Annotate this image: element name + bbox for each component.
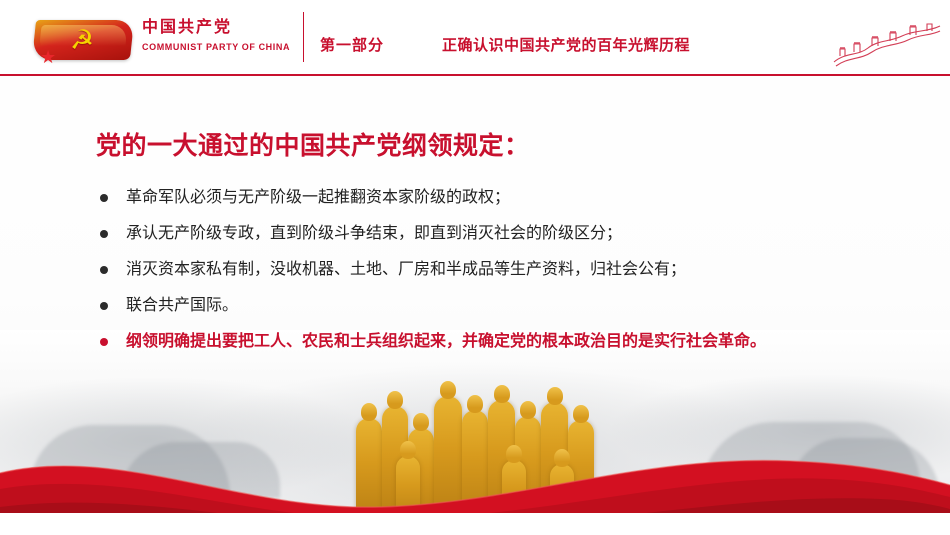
page-title: 党的一大通过的中国共产党纲领规定：	[96, 126, 530, 162]
slide-body: 党的一大通过的中国共产党纲领规定： 革命军队必须与无产阶级一起推翻资本家阶级的政…	[0, 76, 950, 535]
section-title: 正确认识中国共产党的百年光辉历程	[442, 34, 690, 55]
brand-block: 中国共产党 COMMUNIST PARTY OF CHINA	[142, 18, 302, 54]
list-item-label: 革命军队必须与无产阶级一起推翻资本家阶级的政权；	[126, 189, 510, 206]
list-item: 联合共产国际。	[96, 288, 886, 324]
list-item-label: 消灭资本家私有制，没收机器、土地、厂房和半成品等生产资料，归社会公有；	[126, 261, 686, 278]
list-item: 承认无产阶级专政，直到阶级斗争结束，即直到消灭社会的阶级区分；	[96, 216, 886, 252]
section-label: 第一部分	[320, 34, 384, 55]
slide: ☭ ★ 中国共产党 COMMUNIST PARTY OF CHINA 第一部分 …	[0, 0, 950, 535]
header-divider	[303, 12, 304, 62]
footer-band	[0, 513, 950, 535]
list-item-label: 承认无产阶级专政，直到阶级斗争结束，即直到消灭社会的阶级区分；	[126, 225, 622, 242]
list-item: 革命军队必须与无产阶级一起推翻资本家阶级的政权；	[96, 180, 886, 216]
hammer-and-sickle-icon: ☭	[60, 26, 104, 56]
list-item: 消灭资本家私有制，没收机器、土地、厂房和半成品等生产资料，归社会公有；	[96, 252, 886, 288]
bullet-dot-icon	[100, 302, 108, 310]
party-emblem-icon: ☭ ★	[34, 16, 139, 64]
great-wall-icon	[832, 22, 942, 68]
star-icon: ★	[40, 49, 56, 67]
list-item-label: 联合共产国际。	[126, 297, 238, 314]
brand-name-cn: 中国共产党	[142, 18, 302, 38]
list-item-label: 纲领明确提出要把工人、农民和士兵组织起来，并确定党的根本政治目的是实行社会革命。	[126, 333, 766, 350]
bullet-dot-icon	[100, 338, 108, 346]
bullet-dot-icon	[100, 194, 108, 202]
list-item-highlighted: 纲领明确提出要把工人、农民和士兵组织起来，并确定党的根本政治目的是实行社会革命。	[96, 324, 886, 360]
bullet-dot-icon	[100, 230, 108, 238]
bullet-list: 革命军队必须与无产阶级一起推翻资本家阶级的政权； 承认无产阶级专政，直到阶级斗争…	[96, 180, 886, 360]
header-accent-rule	[0, 74, 950, 76]
bullet-dot-icon	[100, 266, 108, 274]
brand-name-en: COMMUNIST PARTY OF CHINA	[142, 40, 302, 54]
slide-header: ☭ ★ 中国共产党 COMMUNIST PARTY OF CHINA 第一部分 …	[0, 0, 950, 76]
